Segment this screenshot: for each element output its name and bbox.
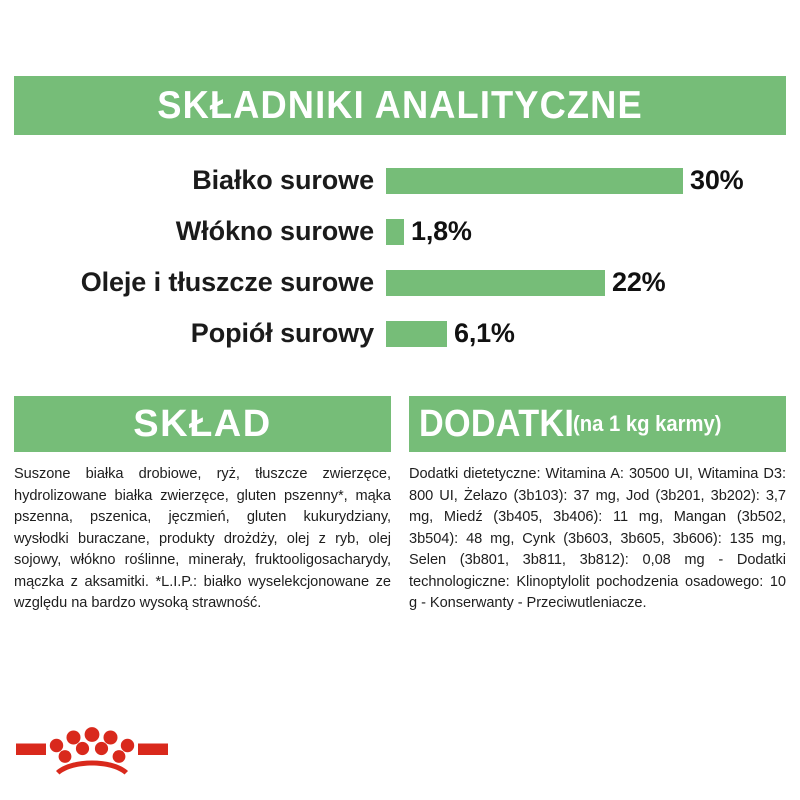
additives-panel: DODATKI (na 1 kg karmy) Dodatki dietetyc… [409,396,786,615]
composition-panel-title: SKŁAD [133,405,271,443]
composition-panel-body: Suszone białka drobiowe, ryż, tłuszcze z… [14,464,391,615]
additives-panel-subtitle: (na 1 kg karmy) [573,413,721,435]
chart-bar [386,168,683,194]
chart-row: Włókno surowe 1,8% [0,206,800,257]
additives-panel-title: DODATKI [419,405,574,443]
chart-row: Białko surowe 30% [0,155,800,206]
chart-bar-wrapper: 6,1% [386,318,800,349]
chart-value-label: 6,1% [454,318,515,349]
chart-category-label: Białko surowe [0,165,386,196]
chart-value-label: 22% [612,267,665,298]
additives-panel-header: DODATKI (na 1 kg karmy) [409,396,786,452]
chart-bar [386,270,605,296]
chart-category-label: Włókno surowe [0,216,386,247]
chart-bar [386,321,447,347]
chart-bar-wrapper: 22% [386,267,800,298]
chart-bar-wrapper: 1,8% [386,216,800,247]
chart-category-label: Popiół surowy [0,318,386,349]
chart-category-label: Oleje i tłuszcze surowe [0,267,386,298]
composition-panel-header: SKŁAD [14,396,391,452]
additives-panel-body: Dodatki dietetyczne: Witamina A: 30500 U… [409,464,786,615]
chart-value-label: 30% [690,165,743,196]
royal-canin-crown-logo [16,718,168,780]
analytical-constituents-title: SKŁADNIKI ANALITYCZNE [157,86,643,125]
analytical-constituents-header: SKŁADNIKI ANALITYCZNE [14,76,786,135]
info-panels: SKŁAD Suszone białka drobiowe, ryż, tłus… [14,396,786,615]
chart-value-label: 1,8% [411,216,472,247]
composition-panel: SKŁAD Suszone białka drobiowe, ryż, tłus… [14,396,391,615]
crown-icon [16,718,168,780]
chart-bar-wrapper: 30% [386,165,800,196]
chart-bar [386,219,404,245]
chart-row: Oleje i tłuszcze surowe 22% [0,257,800,308]
chart-row: Popiół surowy 6,1% [0,308,800,359]
analytical-constituents-chart: Białko surowe 30% Włókno surowe 1,8% Ole… [0,155,800,359]
